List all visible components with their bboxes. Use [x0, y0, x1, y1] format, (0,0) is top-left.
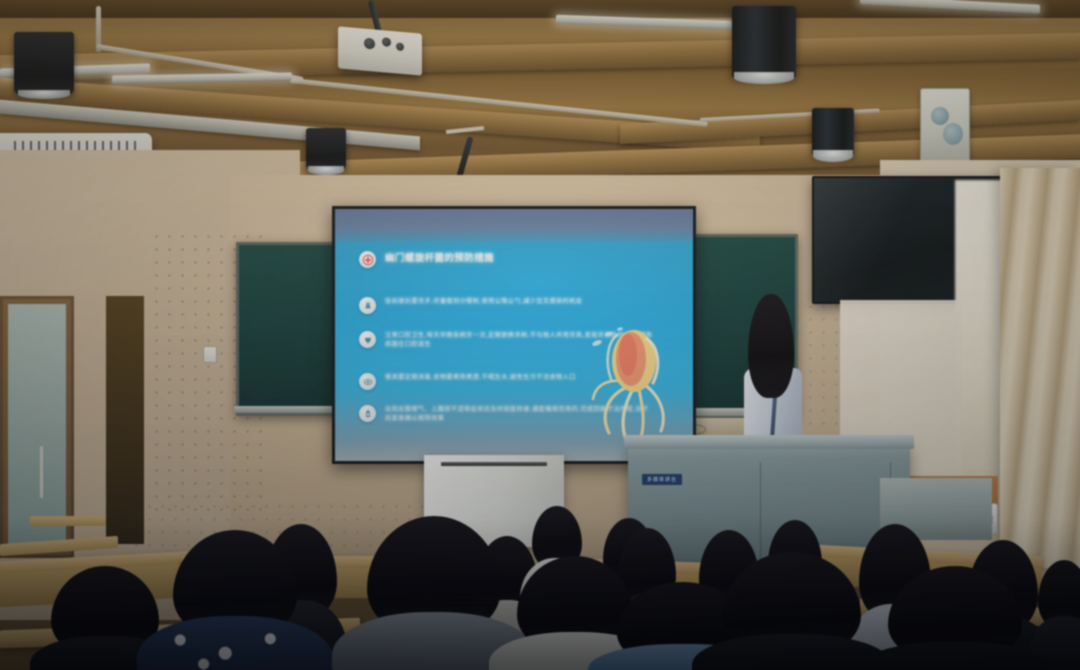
podium-placard: 多媒体讲台	[642, 474, 682, 485]
medicine-bottle-icon	[359, 405, 376, 422]
classroom-photo: 幽门螺旋杆菌的预防措施 饭前便后要洗手,尽量做到分餐制,使用公筷公勺,减少交叉感…	[0, 0, 1080, 670]
presentation-slide: 幽门螺旋杆菌的预防措施 饭前便后要洗手,尽量做到分餐制,使用公筷公勺,减少交叉感…	[335, 209, 693, 461]
window-curtain[interactable]	[1000, 168, 1080, 568]
presenter-hair	[748, 294, 794, 398]
chalkboard-left	[236, 242, 346, 416]
slide-bullet: 餐具要定期消毒,食物要煮熟煮透,不喝生水,避免生冷不洁食物入口	[359, 373, 576, 390]
slide-title-row: 幽门螺旋杆菌的预防措施	[359, 251, 494, 268]
ceiling-speaker	[732, 6, 796, 78]
tube-light	[112, 72, 292, 83]
ceiling-projector	[338, 26, 422, 75]
slide-bullet: 饭前便后要洗手,尽量做到分餐制,使用公筷公勺,减少交叉感染的机会	[359, 297, 582, 314]
student	[870, 566, 1040, 670]
door-recess	[106, 296, 144, 544]
slide-bullet-text: 餐具要定期消毒,食物要煮熟煮透,不喝生水,避免生冷不洁食物入口	[385, 373, 576, 382]
bench	[30, 516, 106, 526]
ceiling-speaker	[306, 128, 346, 170]
projection-screen: 幽门螺旋杆菌的预防措施 饭前便后要洗手,尽量做到分餐制,使用公筷公勺,减少交叉感…	[332, 206, 696, 464]
light-switch[interactable]	[203, 346, 217, 363]
clean-dish-icon	[359, 373, 376, 390]
chalk-tray	[234, 406, 344, 413]
medical-cross-icon	[359, 251, 376, 268]
ceiling-speaker	[812, 108, 854, 156]
podium-top	[624, 435, 914, 449]
slide-bullet-text: 饭前便后要洗手,尽量做到分餐制,使用公筷公勺,减少交叉感染的机会	[385, 297, 582, 306]
student	[150, 530, 320, 670]
student-floral-jacket	[137, 616, 333, 670]
hand-wash-icon	[359, 297, 376, 314]
ceiling-speaker	[14, 32, 74, 94]
student	[344, 516, 524, 670]
h-pylori-bacterium-illustration	[587, 325, 679, 443]
heart-icon	[359, 331, 376, 348]
student	[704, 552, 880, 670]
screen-glare	[335, 209, 693, 243]
student	[1034, 560, 1080, 670]
slide-title-text: 幽门螺旋杆菌的预防措施	[385, 252, 494, 266]
wall-speaker	[920, 88, 970, 162]
